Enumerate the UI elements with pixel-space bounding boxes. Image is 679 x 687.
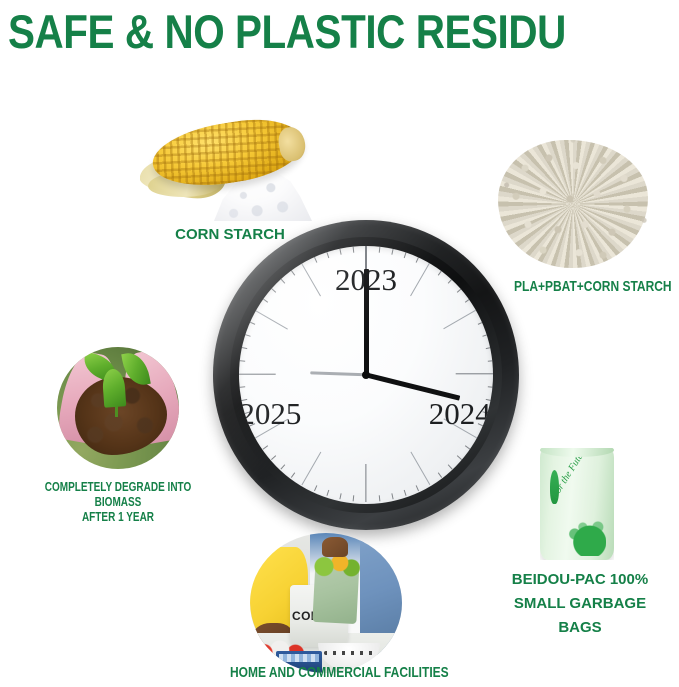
clock-tick-minor [403, 252, 406, 258]
caption-pla-pbat-corn-starch: PLA+PBAT+CORN STARCH [514, 278, 666, 295]
clock-tick-minor [239, 386, 244, 388]
clock-tick-minor [339, 493, 341, 499]
caption-beidou-pac-line2: SMALL GARBAGE BAGS [500, 592, 660, 640]
clock-tick-minor [326, 490, 329, 496]
clock-hour-hand [365, 373, 459, 401]
clock-tick-minor [280, 464, 285, 469]
clock-tick-major [301, 263, 321, 297]
caption-beidou-pac-line1: BEIDOU-PAC 100% [500, 568, 660, 592]
clock-tick-minor [271, 288, 276, 293]
caption-degrade-biomass-line1: COMPLETELY DEGRADE INTO BIOMASS [40, 480, 197, 510]
clock-tick-minor [244, 334, 250, 337]
clock-tick-minor [464, 445, 469, 449]
caption-degrade-biomass-line2: AFTER 1 YEAR [40, 510, 197, 525]
roll-green-artwork [548, 498, 606, 556]
degradation-timeline-clock: 2023 2024 2025 [213, 220, 519, 530]
home-commercial-image: COMPOST [250, 533, 402, 673]
clock-tick-minor [437, 270, 441, 275]
clock-tick-minor [482, 334, 488, 337]
person-hand-top [322, 537, 348, 557]
clock-face: 2023 2024 2025 [239, 246, 492, 504]
clock-tick-major [410, 263, 430, 297]
clock-tick-minor [485, 347, 491, 349]
clock-tick-minor [280, 279, 285, 284]
clock-tick-minor [326, 252, 329, 258]
clock-tick-minor [241, 347, 247, 349]
clock-tick-minor [403, 490, 406, 496]
clock-tick-minor [271, 455, 276, 460]
clock-tick-minor [447, 464, 452, 469]
clock-tick-minor [456, 455, 461, 460]
roll-body: For the Future [540, 448, 614, 560]
caption-degrade-biomass: COMPLETELY DEGRADE INTO BIOMASS AFTER 1 … [40, 480, 197, 525]
clock-minute-hand [364, 269, 369, 375]
clock-numeral-2025: 2025 [239, 396, 301, 432]
caption-home-commercial: HOME AND COMMERCIAL FACILITIES [230, 664, 422, 681]
clock-tick-minor [464, 298, 469, 302]
clock-tick-major [239, 373, 276, 374]
clock-tick-minor [239, 360, 244, 362]
clock-tick-minor [415, 485, 418, 491]
clock-tick-minor [378, 495, 380, 501]
biomass-degrade-image [57, 347, 179, 469]
clock-tick-minor [352, 247, 354, 253]
clock-tick-major [301, 452, 321, 486]
clock-tick-minor [378, 247, 380, 253]
clock-tick-minor [415, 257, 418, 263]
clock-tick-major [410, 452, 430, 486]
clock-tick-minor [352, 495, 354, 501]
clock-tick-minor [456, 288, 461, 293]
clock-tick-minor [262, 298, 267, 302]
clock-tick-minor [290, 270, 294, 275]
clock-numeral-2024: 2024 [429, 396, 491, 432]
clock-tick-minor [290, 472, 294, 477]
page-title: SAFE & NO PLASTIC RESIDU [8, 6, 566, 58]
corn-starch-image [140, 105, 320, 225]
pla-pellets-image [498, 140, 648, 268]
clock-tick-minor [437, 472, 441, 477]
clock-tick-minor [262, 445, 267, 449]
caption-beidou-pac-bags: BEIDOU-PAC 100% SMALL GARBAGE BAGS [500, 568, 660, 640]
clock-center-cap [362, 371, 370, 379]
clock-tick-minor [447, 279, 452, 284]
clock-tick-minor [339, 249, 341, 255]
clock-tick-minor [487, 360, 492, 362]
clock-tick-minor [249, 322, 255, 325]
clock-tick-major [365, 464, 366, 502]
clock-tick-minor [391, 493, 393, 499]
clock-tick-major [444, 309, 478, 329]
clock-tick-minor [313, 485, 316, 491]
clock-tick-minor [487, 386, 492, 388]
clock-tick-minor [477, 322, 483, 325]
pellet-mound-shape [498, 140, 648, 268]
clock-tick-minor [391, 249, 393, 255]
clock-second-hand [310, 372, 366, 376]
clock-tick-major [456, 373, 493, 374]
garbage-bag-roll-image: For the Future [540, 448, 614, 560]
clock-tick-minor [313, 257, 316, 263]
clock-tick-major [255, 309, 289, 329]
